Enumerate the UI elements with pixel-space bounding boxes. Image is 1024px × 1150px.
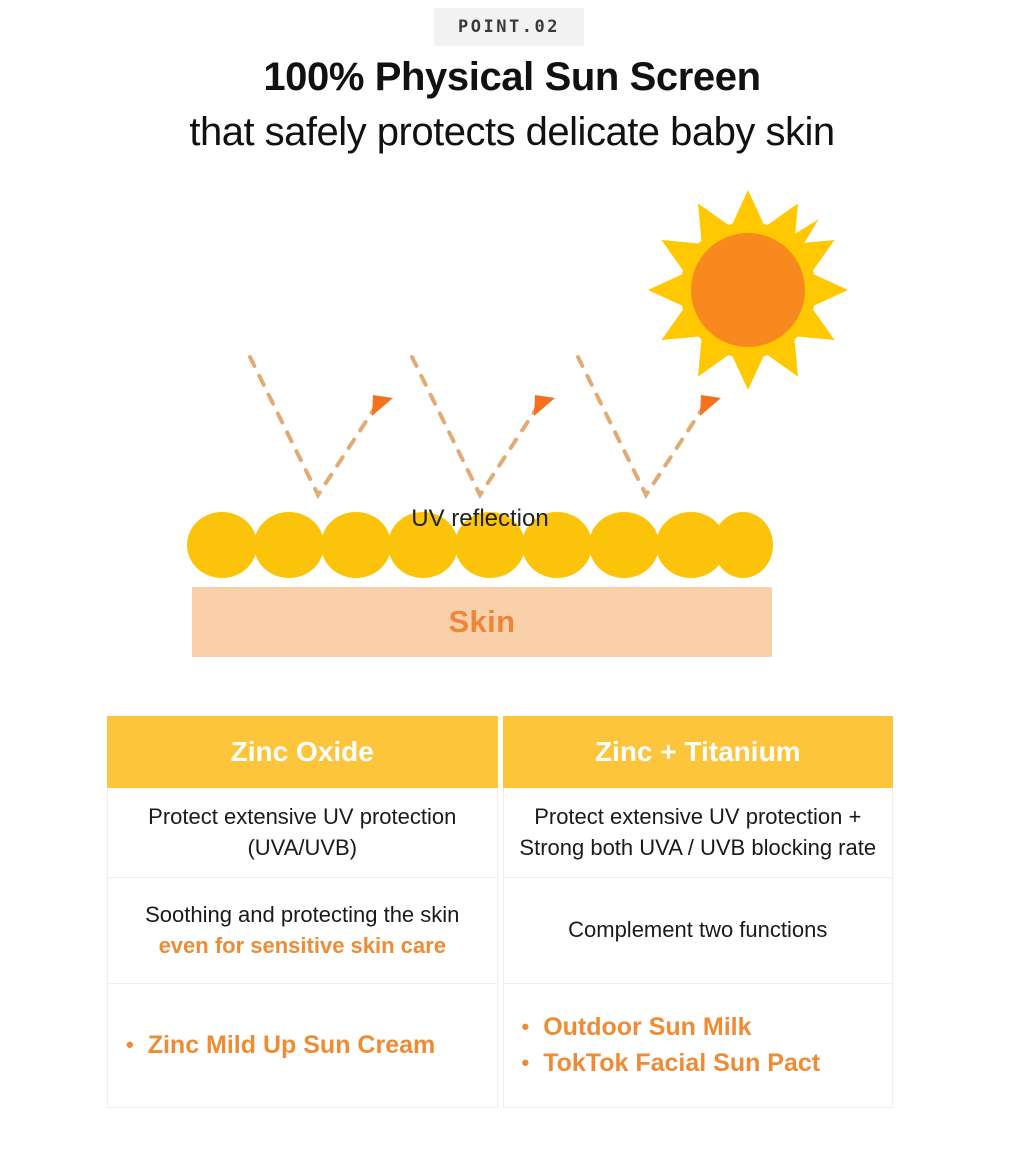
product-name: Zinc Mild Up Sun Cream [148, 1028, 436, 1064]
table-cell-zinc-titanium-desc-b: Complement two functions [503, 878, 894, 984]
mineral-particle [254, 512, 324, 578]
uv-arrowhead-group [372, 395, 721, 416]
product-name: TokTok Facial Sun Pact [543, 1046, 820, 1082]
page-title: 100% Physical Sun Screen [0, 55, 1024, 100]
mineral-particle [713, 512, 773, 578]
list-item[interactable]: • Outdoor Sun Milk [522, 1010, 879, 1046]
list-item[interactable]: • TokTok Facial Sun Pact [522, 1046, 879, 1082]
product-list-zinc-titanium: • Outdoor Sun Milk • TokTok Facial Sun P… [512, 1010, 879, 1081]
skin-label: Skin [448, 604, 515, 640]
table-cell-zinc-oxide-desc-b: Soothing and protecting the skin even fo… [107, 878, 498, 984]
comparison-table: Zinc Oxide Protect extensive UV protecti… [107, 716, 893, 1108]
zinc-oxide-desc-b-plain: Soothing and protecting the skin [145, 902, 459, 927]
point-badge: POINT.02 [434, 8, 584, 46]
column-header-zinc-oxide: Zinc Oxide [107, 716, 498, 788]
table-cell-zinc-oxide-desc-a: Protect extensive UV protection (UVA/UVB… [107, 788, 498, 878]
uv-reflection-label: UV reflection [330, 505, 630, 533]
product-name: Outdoor Sun Milk [543, 1010, 751, 1046]
bullet-icon: • [522, 1010, 530, 1043]
sun-icon [648, 190, 848, 390]
zinc-oxide-desc-b-highlight: even for sensitive skin care [159, 933, 446, 958]
product-list-zinc-oxide: • Zinc Mild Up Sun Cream [116, 1028, 483, 1064]
point-badge-label: POINT.02 [458, 17, 560, 37]
uv-arrowhead [372, 395, 393, 416]
bullet-icon: • [126, 1028, 134, 1061]
uv-ray-path [250, 357, 378, 495]
skin-layer: Skin [192, 587, 772, 657]
table-cell-zinc-titanium-products: • Outdoor Sun Milk • TokTok Facial Sun P… [503, 984, 894, 1108]
table-column-zinc-oxide: Zinc Oxide Protect extensive UV protecti… [107, 716, 498, 1108]
page-subtitle: that safely protects delicate baby skin [0, 110, 1024, 155]
column-header-zinc-titanium: Zinc + Titanium [503, 716, 894, 788]
table-column-zinc-titanium: Zinc + Titanium Protect extensive UV pro… [503, 716, 894, 1108]
uv-ray-path [578, 357, 706, 495]
uv-ray-path [412, 357, 540, 495]
zinc-titanium-desc-b-plain: Complement two functions [568, 917, 827, 942]
table-cell-zinc-titanium-desc-a: Protect extensive UV protection + Strong… [503, 788, 894, 878]
uv-ray-group [250, 357, 706, 495]
uv-arrowhead [534, 395, 555, 416]
list-item[interactable]: • Zinc Mild Up Sun Cream [126, 1028, 483, 1064]
table-cell-zinc-oxide-products: • Zinc Mild Up Sun Cream [107, 984, 498, 1108]
uv-arrowhead [700, 395, 721, 416]
mineral-particle [187, 512, 257, 578]
bullet-icon: • [522, 1046, 530, 1079]
